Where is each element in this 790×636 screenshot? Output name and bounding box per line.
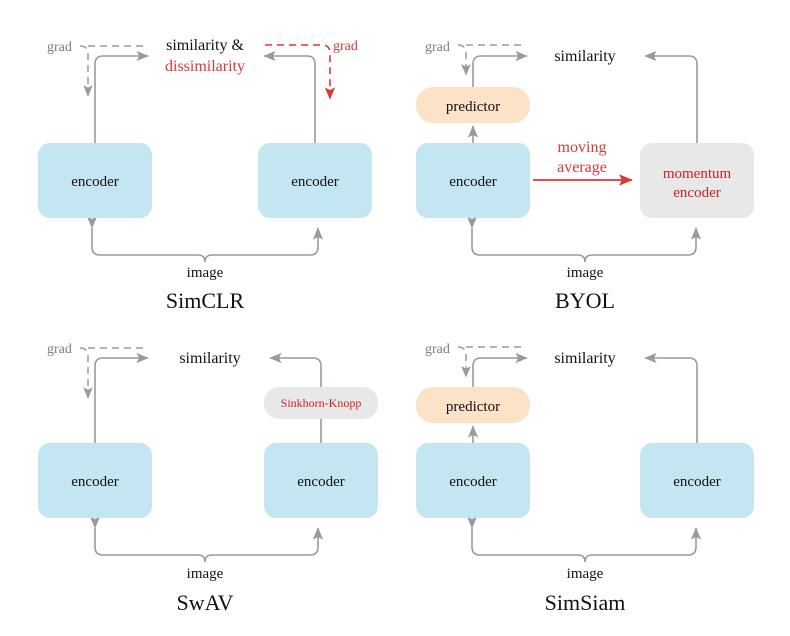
simsiam-grad-label: grad: [425, 342, 450, 357]
swav-grad-arrow: [80, 348, 88, 398]
byol-forward-right-arrow: [645, 56, 697, 143]
swav-forward-right-arrow: [270, 358, 321, 387]
simclr-image-label: image: [187, 265, 224, 281]
simclr-encoder-left-label: encoder: [71, 174, 118, 190]
simclr-grad-left-label: grad: [47, 40, 72, 55]
simsiam-title: SimSiam: [545, 590, 626, 615]
byol-moving-average-label-line2: average: [557, 159, 607, 176]
byol-predictor-label: predictor: [446, 99, 500, 115]
swav-sinkhorn-knopp-label: Sinkhorn-Knopp: [281, 396, 362, 410]
swav-title: SwAV: [176, 590, 233, 615]
swav-encoder-right-label: encoder: [297, 474, 344, 490]
swav-forward-left-arrow: [95, 358, 148, 443]
swav-image-bracket: [95, 528, 318, 562]
simsiam-encoder-right-label: encoder: [673, 474, 720, 490]
panel-byol: image encoder predictor momentum encoder…: [416, 40, 754, 313]
byol-encoder-label: encoder: [449, 174, 496, 190]
simsiam-objective-label: similarity: [554, 350, 615, 367]
byol-momentum-encoder-label-line1: momentum: [663, 166, 732, 182]
self-supervised-methods-figure: image encoder encoder grad grad similari…: [0, 0, 790, 636]
panel-simclr: image encoder encoder grad grad similari…: [38, 37, 372, 313]
simclr-forward-right-arrow: [264, 56, 315, 143]
simclr-title: SimCLR: [166, 288, 245, 313]
byol-image-label: image: [567, 265, 604, 281]
simsiam-image-label: image: [567, 566, 604, 582]
simsiam-forward-right-arrow: [645, 358, 697, 443]
simsiam-encoder-left-label: encoder: [449, 474, 496, 490]
byol-grad-label: grad: [425, 40, 450, 55]
byol-forward-left-arrow: [473, 56, 527, 87]
swav-objective-label: similarity: [179, 350, 240, 367]
byol-image-bracket: [472, 228, 696, 262]
panel-simsiam: image encoder encoder predictor grad sim…: [416, 342, 754, 615]
byol-grad-arrow: [458, 45, 466, 75]
byol-objective-label: similarity: [554, 48, 615, 65]
byol-title: BYOL: [555, 288, 615, 313]
byol-momentum-encoder-label-line2: encoder: [673, 185, 720, 201]
swav-grad-label: grad: [47, 342, 72, 357]
panel-swav: image encoder encoder Sinkhorn-Knopp gra…: [38, 342, 378, 615]
diagram-canvas: image encoder encoder grad grad similari…: [0, 0, 790, 636]
simclr-forward-left-arrow: [95, 56, 148, 143]
simclr-image-bracket: [92, 228, 318, 262]
simclr-grad-right-label: grad: [333, 39, 358, 54]
swav-image-label: image: [187, 566, 224, 582]
simclr-objective-similarity-label: similarity &: [166, 37, 244, 54]
simclr-grad-left-arrow: [80, 46, 88, 96]
simsiam-grad-arrow: [458, 347, 466, 377]
simclr-encoder-right-label: encoder: [291, 174, 338, 190]
simsiam-image-bracket: [472, 528, 696, 562]
byol-moving-average-label-line1: moving: [558, 139, 607, 156]
simsiam-predictor-label: predictor: [446, 399, 500, 415]
simsiam-forward-left-arrow: [473, 358, 527, 387]
simclr-objective-dissimilarity-label: dissimilarity: [165, 58, 245, 75]
simclr-grad-right-arrow: [265, 45, 330, 99]
swav-encoder-left-label: encoder: [71, 474, 118, 490]
